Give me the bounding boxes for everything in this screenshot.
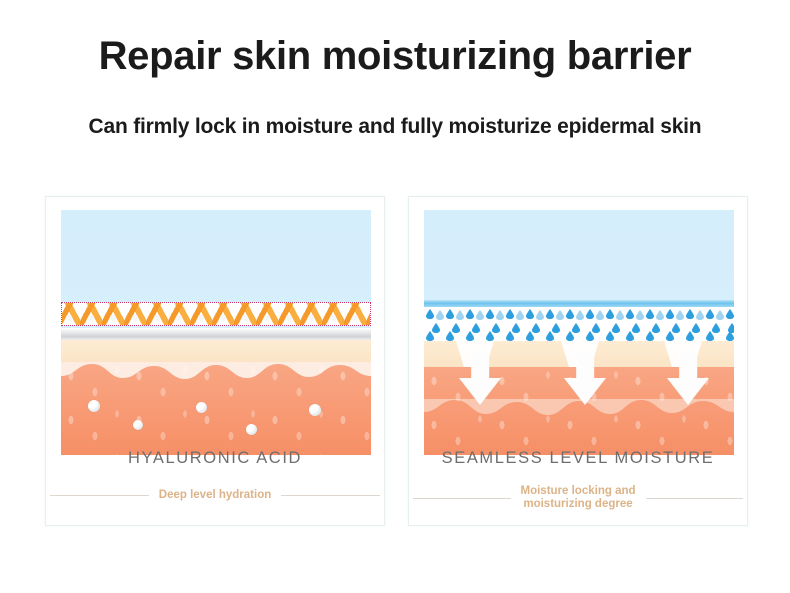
panel-card-seamless-level-moisture: SEAMLESS LEVEL MOISTURE Moisture locking… xyxy=(408,196,748,526)
absorption-arrow xyxy=(667,351,709,405)
dense-droplet-band xyxy=(424,307,734,341)
page-title: Repair skin moisturizing barrier xyxy=(0,34,790,79)
pearl-particle xyxy=(88,400,100,412)
hyaluronic-acid-barrier-band xyxy=(61,302,371,326)
arrow-head xyxy=(564,378,606,405)
epidermis-layer xyxy=(61,340,371,362)
arrow-head xyxy=(667,378,709,405)
panel-label: HYALURONIC ACID xyxy=(46,449,384,468)
arrow-shaft xyxy=(471,351,489,379)
dermis-texture xyxy=(61,362,371,455)
dermis-layer xyxy=(424,367,734,455)
divider-line-right xyxy=(281,495,380,496)
diagram-hyaluronic-acid xyxy=(61,210,371,455)
panel-sublabel: Deep level hydration xyxy=(159,489,271,502)
pearl-particle xyxy=(133,420,143,430)
panel-sublabel-row: Deep level hydration xyxy=(46,489,384,502)
pearl-particle xyxy=(246,424,257,435)
panel-label: SEAMLESS LEVEL MOISTURE xyxy=(409,449,747,468)
pearl-particle xyxy=(196,402,207,413)
page-subtitle: Can firmly lock in moisture and fully mo… xyxy=(0,115,790,139)
promo-graphic: Repair skin moisturizing barrier Can fir… xyxy=(0,0,790,593)
absorption-arrow xyxy=(564,351,606,405)
divider-line-left xyxy=(50,495,149,496)
seamless-barrier-line xyxy=(424,300,734,307)
helix-coil-pattern xyxy=(61,303,371,325)
arrow-shaft xyxy=(576,351,594,379)
panel-card-hyaluronic-acid: HYALURONIC ACID Deep level hydration xyxy=(45,196,385,526)
pearl-particle xyxy=(309,404,321,416)
droplet-grid xyxy=(424,307,734,341)
dermis-layer xyxy=(61,362,371,455)
stratum-corneum-strip xyxy=(61,328,371,340)
diagram-seamless-level-moisture xyxy=(424,210,734,455)
absorption-arrow xyxy=(459,351,501,405)
panel-sublabel-row: Moisture locking and moisturizing degree xyxy=(409,485,747,511)
panel-sublabel: Moisture locking and moisturizing degree xyxy=(521,485,636,511)
divider-line-right xyxy=(646,498,744,499)
arrow-shaft xyxy=(679,351,697,379)
arrow-head xyxy=(459,378,501,405)
divider-line-left xyxy=(413,498,511,499)
